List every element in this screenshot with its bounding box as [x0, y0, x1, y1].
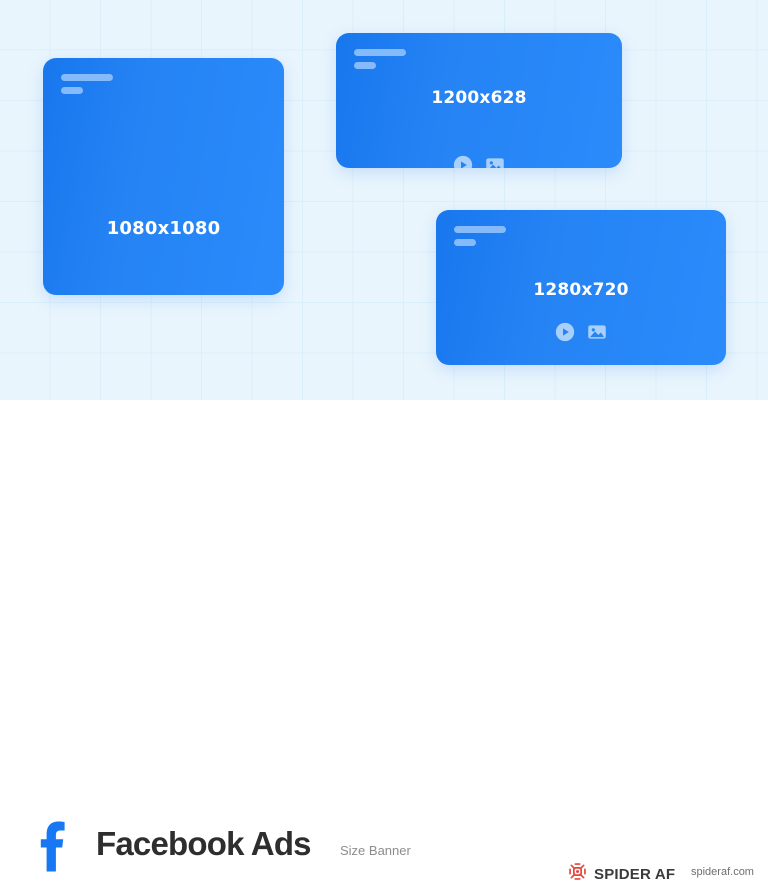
image-icon: [587, 322, 607, 342]
vendor-name: SPIDER AF: [594, 866, 675, 883]
placeholder-bar-short: [454, 239, 476, 246]
vendor-url[interactable]: spideraf.com: [691, 866, 754, 878]
grid-canvas: 1080x1080: [0, 0, 768, 400]
card-format-icons: [436, 322, 726, 342]
play-icon: [555, 322, 575, 342]
card-placeholder-bars: [61, 74, 113, 94]
card-placeholder-bars: [454, 226, 506, 246]
placeholder-bar-long: [454, 226, 506, 233]
page-title: Facebook Ads: [96, 825, 311, 863]
ad-size-card-1200x628[interactable]: 1200x628: [336, 33, 622, 168]
spider-af-icon: [568, 862, 587, 886]
ad-size-card-1280x720[interactable]: 1280x720: [436, 210, 726, 365]
facebook-f-icon: [30, 818, 76, 874]
ad-size-banner-infographic: 1080x1080: [0, 0, 768, 498]
page-subtitle: Size Banner: [340, 843, 411, 858]
card-format-icons: [336, 155, 622, 168]
vendor-logo[interactable]: SPIDER AF: [568, 862, 675, 886]
ad-size-card-1080x1080[interactable]: 1080x1080: [43, 58, 284, 295]
card-size-label: 1200x628: [336, 88, 622, 108]
card-size-label: 1280x720: [436, 280, 726, 300]
placeholder-bar-long: [354, 49, 406, 56]
footer-bar: Facebook Ads Size Banner: [0, 400, 768, 498]
placeholder-bar-short: [61, 87, 83, 94]
image-icon: [485, 155, 505, 168]
card-placeholder-bars: [354, 49, 406, 69]
card-size-label: 1080x1080: [43, 218, 284, 239]
placeholder-bar-long: [61, 74, 113, 81]
play-icon: [453, 155, 473, 168]
placeholder-bar-short: [354, 62, 376, 69]
